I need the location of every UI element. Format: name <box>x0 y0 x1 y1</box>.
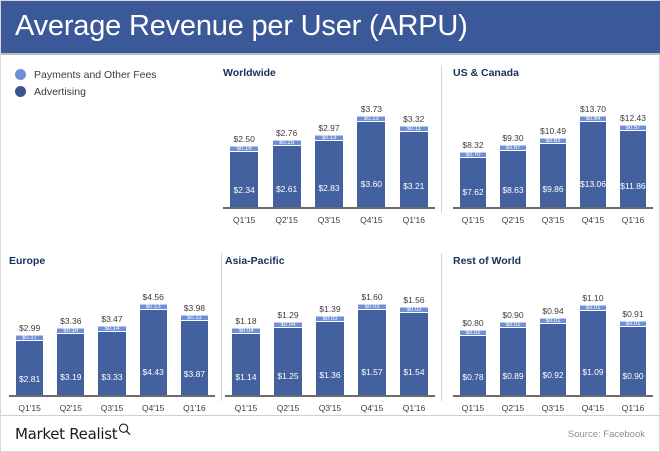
bar-total-label: $8.32 <box>462 140 483 150</box>
segment-value-label: $2.83 <box>315 184 343 193</box>
x-axis-tick-label: Q1'16 <box>613 215 653 225</box>
x-axis-tick-label: Q3'15 <box>91 403 132 413</box>
segment-value-label: $2.81 <box>16 375 43 384</box>
bar-total-label: $1.60 <box>361 292 382 302</box>
x-axis-tick-label: Q3'15 <box>533 403 573 413</box>
brand-name: Market Realist <box>15 425 117 443</box>
bar-segment-advertising[interactable]: $2.81 <box>16 341 43 395</box>
bar-column[interactable]: $1.29$0.04$1.25 <box>274 322 302 395</box>
brand-logo: Market Realist <box>15 425 131 443</box>
bar-segment-advertising[interactable]: $3.33 <box>98 332 125 395</box>
bar-segment-advertising[interactable]: $13.06 <box>580 122 606 207</box>
panel-title: Rest of World <box>453 255 521 267</box>
bar-total-label: $3.73 <box>361 104 382 114</box>
bar-column[interactable]: $3.73$0.13$3.60 <box>357 116 385 207</box>
bar-total-label: $3.36 <box>60 316 81 326</box>
bar-total-label: $2.50 <box>234 134 255 144</box>
x-axis-tick-label: Q2'15 <box>493 403 533 413</box>
bar-total-label: $0.94 <box>542 306 563 316</box>
segment-value-label: $0.90 <box>620 372 646 381</box>
x-axis-tick-label: Q1'16 <box>613 403 653 413</box>
chart-panel: US & Canada$8.32$0.70$7.62Q1'15$9.30$0.6… <box>453 67 653 227</box>
segment-value-label: $11.86 <box>620 182 646 191</box>
segment-value-label: $3.60 <box>357 180 385 189</box>
bar-segment-advertising[interactable]: $3.19 <box>57 334 84 395</box>
bar-total-label: $2.76 <box>276 128 297 138</box>
chart-panel: Europe$2.99$0.17$2.81Q1'15$3.36$0.16$3.1… <box>9 255 215 415</box>
bar-column[interactable]: $3.36$0.16$3.19 <box>57 328 84 395</box>
bar-column[interactable]: $1.18$0.04$1.14 <box>232 328 260 395</box>
segment-value-label: $4.43 <box>140 368 167 377</box>
x-axis-tick-label: Q4'15 <box>573 215 613 225</box>
x-axis-tick-label: Q1'16 <box>174 403 215 413</box>
segment-value-label: $13.06 <box>580 180 606 189</box>
bar-column[interactable]: $12.43$0.57$11.86 <box>620 125 646 207</box>
bar-segment-advertising[interactable]: $3.87 <box>181 321 208 395</box>
x-axis-line <box>225 395 435 397</box>
bar-segment-advertising[interactable]: $11.86 <box>620 131 646 207</box>
x-axis-tick-label: Q2'15 <box>267 403 309 413</box>
bar-segment-advertising[interactable]: $9.86 <box>540 144 566 207</box>
segment-value-label: $2.61 <box>273 185 301 194</box>
x-axis-tick-label: Q2'15 <box>493 215 533 225</box>
bar-column[interactable]: $0.80$0.02$0.78 <box>460 330 486 395</box>
bar-column[interactable]: $2.76$0.15$2.61 <box>273 140 301 207</box>
bar-column[interactable]: $1.60$0.03$1.57 <box>358 304 386 395</box>
bar-total-label: $3.32 <box>403 114 424 124</box>
x-axis-tick-label: Q1'15 <box>453 403 493 413</box>
bar-segment-advertising[interactable]: $0.89 <box>500 328 526 395</box>
segment-value-label: $1.57 <box>358 368 386 377</box>
x-axis-tick-label: Q4'15 <box>351 403 393 413</box>
page-title: Average Revenue per User (ARPU) <box>15 10 468 43</box>
segment-value-label: $1.36 <box>316 371 344 380</box>
bar-total-label: $1.56 <box>403 295 424 305</box>
magnifier-icon <box>118 423 131 441</box>
chart-panel: Asia-Pacific$1.18$0.04$1.14Q1'15$1.29$0.… <box>225 255 435 415</box>
bar-segment-advertising[interactable]: $0.78 <box>460 336 486 395</box>
bar-segment-advertising[interactable]: $1.09 <box>580 311 606 395</box>
segment-value-label: $1.09 <box>580 368 606 377</box>
x-axis-tick-label: Q1'15 <box>453 215 493 225</box>
bar-column[interactable]: $0.91$0.01$0.90 <box>620 321 646 395</box>
bar-segment-advertising[interactable]: $0.90 <box>620 327 646 395</box>
plot-area: $8.32$0.70$7.62Q1'15$9.30$0.67$8.63Q2'15… <box>453 87 653 227</box>
bar-column[interactable]: $1.56$0.02$1.54 <box>400 307 428 395</box>
bar-total-label: $4.56 <box>143 292 164 302</box>
segment-value-label: $0.78 <box>460 373 486 382</box>
bar-column[interactable]: $10.49$0.63$9.86 <box>540 138 566 207</box>
bar-column[interactable]: $0.90$0.01$0.89 <box>500 322 526 395</box>
x-axis-line <box>453 207 653 209</box>
x-axis-line <box>223 207 435 209</box>
x-axis-line <box>453 395 653 397</box>
bar-segment-advertising[interactable]: $1.54 <box>400 313 428 395</box>
bar-column[interactable]: $2.50$0.16$2.34 <box>230 146 258 207</box>
bar-total-label: $13.70 <box>580 104 606 114</box>
segment-value-label: $7.62 <box>460 188 486 197</box>
x-axis-tick-label: Q1'15 <box>225 403 267 413</box>
bar-total-label: $1.39 <box>319 304 340 314</box>
segment-value-label: $3.21 <box>400 182 428 191</box>
bar-total-label: $0.91 <box>622 309 643 319</box>
segment-value-label: $3.87 <box>181 370 208 379</box>
bar-column[interactable]: $2.99$0.17$2.81 <box>16 335 43 395</box>
bar-segment-advertising[interactable]: $2.34 <box>230 152 258 207</box>
panel-title: Europe <box>9 255 45 267</box>
x-axis-tick-label: Q2'15 <box>265 215 307 225</box>
bar-column[interactable]: $3.47$0.14$3.33 <box>98 326 125 395</box>
x-axis-tick-label: Q2'15 <box>50 403 91 413</box>
bar-column[interactable]: $3.32$0.11$3.21 <box>400 126 428 207</box>
bar-column[interactable]: $1.39$0.03$1.36 <box>316 316 344 395</box>
bar-segment-advertising[interactable]: $1.57 <box>358 310 386 395</box>
bar-segment-advertising[interactable]: $8.63 <box>500 151 526 207</box>
bar-column[interactable]: $0.94$0.01$0.92 <box>540 318 566 395</box>
bar-total-label: $9.30 <box>502 133 523 143</box>
bar-segment-advertising[interactable]: $7.62 <box>460 158 486 207</box>
x-axis-tick-label: Q4'15 <box>133 403 174 413</box>
bar-total-label: $1.29 <box>277 310 298 320</box>
plot-area: $0.80$0.02$0.78Q1'15$0.90$0.01$0.89Q2'15… <box>453 275 653 415</box>
chart-panel: Rest of World$0.80$0.02$0.78Q1'15$0.90$0… <box>453 255 653 415</box>
chart-page: Average Revenue per User (ARPU) Payments… <box>0 0 660 452</box>
bar-total-label: $1.18 <box>235 316 256 326</box>
bar-total-label: $2.99 <box>19 323 40 333</box>
x-axis-tick-label: Q1'16 <box>393 215 435 225</box>
panel-title: Worldwide <box>223 67 276 79</box>
plot-area: $2.99$0.17$2.81Q1'15$3.36$0.16$3.19Q2'15… <box>9 275 215 415</box>
bar-total-label: $0.80 <box>462 318 483 328</box>
panel-divider-top <box>441 65 442 213</box>
bar-total-label: $0.90 <box>502 310 523 320</box>
header-band: Average Revenue per User (ARPU) <box>1 1 660 53</box>
panel-divider-bottom-right <box>441 253 442 401</box>
bar-total-label: $2.97 <box>318 123 339 133</box>
x-axis-tick-label: Q3'15 <box>308 215 350 225</box>
bar-total-label: $12.43 <box>620 113 646 123</box>
bar-segment-advertising[interactable]: $3.60 <box>357 122 385 207</box>
segment-value-label: $1.14 <box>232 373 260 382</box>
panel-title: Asia-Pacific <box>225 255 285 267</box>
source-note: Source: Facebook <box>568 429 645 440</box>
segment-value-label: $2.34 <box>230 186 258 195</box>
x-axis-tick-label: Q1'15 <box>223 215 265 225</box>
bar-segment-advertising[interactable]: $2.61 <box>273 146 301 207</box>
panel-title: US & Canada <box>453 67 519 79</box>
chart-panel: Worldwide$2.50$0.16$2.34Q1'15$2.76$0.15$… <box>223 67 435 227</box>
x-axis-tick-label: Q4'15 <box>573 403 613 413</box>
segment-value-label: $9.86 <box>540 185 566 194</box>
segment-value-label: $0.92 <box>540 371 566 380</box>
segment-value-label: $0.89 <box>500 372 526 381</box>
segment-value-label: $3.19 <box>57 373 84 382</box>
chart-panel-grid: Worldwide$2.50$0.16$2.34Q1'15$2.76$0.15$… <box>1 53 660 416</box>
bar-segment-advertising[interactable]: $0.92 <box>540 324 566 395</box>
segment-value-label: $8.63 <box>500 186 526 195</box>
bar-column[interactable]: $13.70$0.64$13.06 <box>580 116 606 207</box>
bar-total-label: $3.98 <box>184 303 205 313</box>
bar-total-label: $3.47 <box>101 314 122 324</box>
bar-column[interactable]: $3.98$0.11$3.87 <box>181 315 208 395</box>
bar-segment-advertising[interactable]: $2.83 <box>315 141 343 207</box>
bar-column[interactable]: $9.30$0.67$8.63 <box>500 145 526 207</box>
plot-area: $1.18$0.04$1.14Q1'15$1.29$0.04$1.25Q2'15… <box>225 275 435 415</box>
bar-segment-advertising[interactable]: $1.36 <box>316 322 344 395</box>
footer-divider <box>1 415 660 416</box>
bar-column[interactable]: $2.97$0.13$2.83 <box>315 135 343 207</box>
x-axis-tick-label: Q1'16 <box>393 403 435 413</box>
x-axis-tick-label: Q3'15 <box>533 215 573 225</box>
segment-value-label: $3.33 <box>98 373 125 382</box>
plot-area: $2.50$0.16$2.34Q1'15$2.76$0.15$2.61Q2'15… <box>223 87 435 227</box>
x-axis-tick-label: Q4'15 <box>350 215 392 225</box>
bar-column[interactable]: $4.56$0.13$4.43 <box>140 304 167 395</box>
x-axis-tick-label: Q1'15 <box>9 403 50 413</box>
bar-column[interactable]: $1.10$0.01$1.09 <box>580 305 606 395</box>
bar-column[interactable]: $8.32$0.70$7.62 <box>460 152 486 207</box>
bar-segment-advertising[interactable]: $3.21 <box>400 132 428 207</box>
bar-segment-advertising[interactable]: $1.25 <box>274 328 302 395</box>
panel-divider-bottom-left <box>221 253 222 401</box>
segment-value-label: $1.25 <box>274 372 302 381</box>
bar-total-label: $1.10 <box>582 293 603 303</box>
x-axis-line <box>9 395 215 397</box>
bar-segment-advertising[interactable]: $4.43 <box>140 310 167 395</box>
bar-total-label: $10.49 <box>540 126 566 136</box>
bar-segment-advertising[interactable]: $1.14 <box>232 334 260 395</box>
x-axis-tick-label: Q3'15 <box>309 403 351 413</box>
segment-value-label: $1.54 <box>400 368 428 377</box>
